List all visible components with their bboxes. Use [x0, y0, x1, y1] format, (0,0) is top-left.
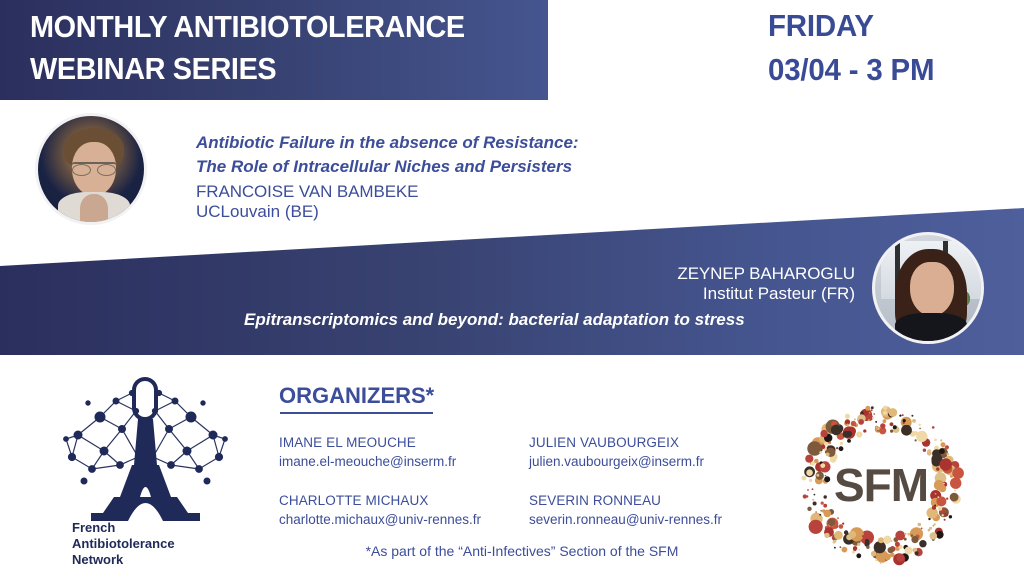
organizer-entry: JULIEN VAUBOURGEIX julien.vaubourgeix@in… — [529, 433, 759, 471]
organizer-name: SEVERIN RONNEAU — [529, 491, 759, 510]
organizer-email[interactable]: imane.el-meouche@inserm.fr — [279, 452, 529, 471]
speaker-1-avatar — [35, 113, 147, 225]
network-logo-caption-line1: French — [72, 520, 222, 536]
organizer-name: CHARLOTTE MICHAUX — [279, 491, 529, 510]
organizer-email[interactable]: charlotte.michaux@univ-rennes.fr — [279, 510, 529, 529]
organizer-entry: SEVERIN RONNEAU severin.ronneau@univ-ren… — [529, 491, 759, 529]
page-title: MONTHLY ANTIBIOTOLERANCE WEBINAR SERIES — [30, 6, 514, 90]
speaker-1-talk-title-line2: The Role of Intracellular Niches and Per… — [196, 155, 716, 179]
sfm-logo-text: SFM — [788, 392, 974, 578]
event-datetime: FRIDAY 03/04 - 3 PM — [768, 4, 934, 92]
event-date-time: 03/04 - 3 PM — [768, 48, 934, 92]
organizers-list: IMANE EL MEOUCHE imane.el-meouche@inserm… — [279, 433, 759, 529]
speaker-1-talk-title: Antibiotic Failure in the absence of Res… — [196, 131, 716, 179]
event-day: FRIDAY — [768, 4, 934, 48]
webinar-poster: MONTHLY ANTIBIOTOLERANCE WEBINAR SERIES … — [0, 0, 1024, 585]
glasses-icon — [71, 162, 117, 175]
avatar-collar — [58, 192, 130, 225]
organizer-email[interactable]: julien.vaubourgeix@inserm.fr — [529, 452, 759, 471]
speaker-2-affiliation: Institut Pasteur (FR) — [400, 284, 855, 304]
organizer-entry: IMANE EL MEOUCHE imane.el-meouche@inserm… — [279, 433, 529, 471]
network-logo-caption: French Antibiotolerance Network — [72, 520, 222, 568]
page-title-line2: WEBINAR SERIES — [30, 48, 514, 90]
speaker-2-avatar — [872, 232, 984, 344]
speaker-2-block: ZEYNEP BAHAROGLU Institut Pasteur (FR) — [400, 264, 855, 304]
network-logo-caption-line3: Network — [72, 552, 222, 568]
organizer-name: JULIEN VAUBOURGEIX — [529, 433, 759, 452]
organizers-heading: ORGANIZERS* — [279, 383, 434, 409]
organizer-entry: CHARLOTTE MICHAUX charlotte.michaux@univ… — [279, 491, 529, 529]
french-antibiotolerance-network-logo: French Antibiotolerance Network — [58, 373, 233, 578]
speaker-1-block: Antibiotic Failure in the absence of Res… — [196, 131, 716, 222]
speaker-1-name: FRANCOISE VAN BAMBEKE — [196, 182, 716, 202]
eiffel-tower-network-icon — [58, 373, 233, 523]
organizers-heading-underline — [280, 412, 433, 414]
speaker-1-affiliation: UCLouvain (BE) — [196, 202, 716, 222]
organizer-name: IMANE EL MEOUCHE — [279, 433, 529, 452]
speaker-1-talk-title-line1: Antibiotic Failure in the absence of Res… — [196, 131, 716, 155]
sfm-logo: SFM — [788, 392, 974, 578]
page-title-line1: MONTHLY ANTIBIOTOLERANCE — [30, 9, 465, 44]
network-logo-caption-line2: Antibiotolerance — [72, 536, 222, 552]
avatar-face — [910, 262, 954, 316]
speaker-2-talk-title: Epitranscriptomics and beyond: bacterial… — [244, 309, 854, 331]
organizer-email[interactable]: severin.ronneau@univ-rennes.fr — [529, 510, 759, 529]
avatar-turtleneck — [895, 313, 967, 343]
speaker-2-name: ZEYNEP BAHAROGLU — [400, 264, 855, 284]
